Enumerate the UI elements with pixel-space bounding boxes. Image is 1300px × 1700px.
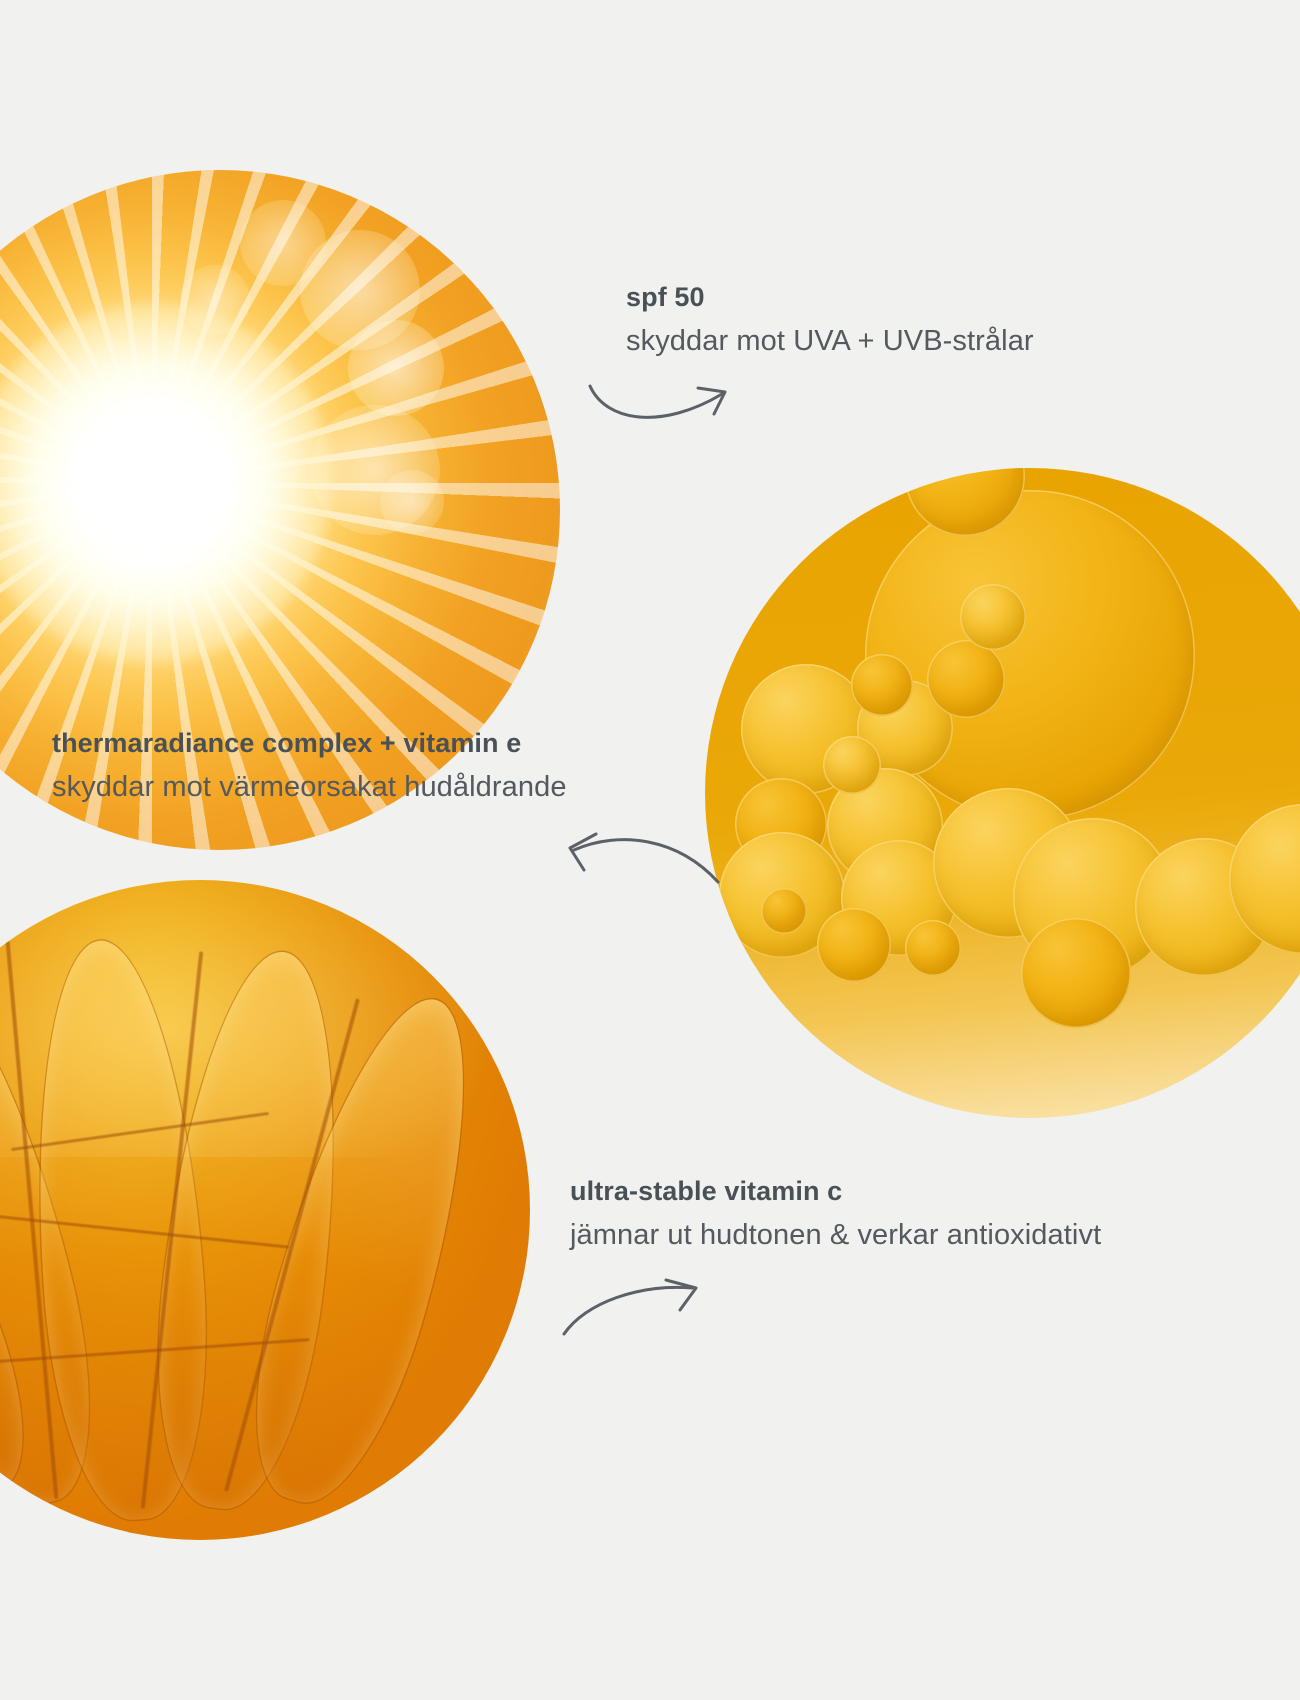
feature-heading-thermaradiance: thermaradiance complex + vitamin e [52,728,567,760]
oil-bubble [761,888,807,934]
oil-bubble [1021,918,1131,1028]
feature-text-thermaradiance: thermaradiance complex + vitamin e skydd… [52,728,567,805]
feature-text-vitaminc: ultra-stable vitamin c jämnar ut hudtone… [570,1176,1101,1253]
oil-bubble [905,920,961,976]
feature-subtext-vitaminc: jämnar ut hudtonen & verkar antioxidativ… [570,1218,1101,1253]
oil-bubbles-circle-image [705,468,1300,1118]
bokeh-circle [380,470,444,534]
curved-arrow-to-sun-icon [586,378,736,438]
curved-arrow-to-text-icon [562,828,722,886]
infographic-canvas: spf 50 skyddar mot UVA + UVB-strålar the… [0,0,1300,1700]
oil-bubble [960,584,1026,650]
feature-heading-vitaminc: ultra-stable vitamin c [570,1176,1101,1208]
oil-bubble [817,908,891,982]
bokeh-circle [240,200,326,286]
bokeh-circle [180,265,250,335]
feature-text-spf: spf 50 skyddar mot UVA + UVB-strålar [626,282,1034,359]
citrus-fruit-circle-image [0,880,530,1540]
feature-heading-spf: spf 50 [626,282,1034,314]
feature-subtext-spf: skyddar mot UVA + UVB-strålar [626,324,1034,359]
curved-arrow-to-citrus-icon [560,1278,710,1340]
feature-subtext-thermaradiance: skyddar mot värmeorsakat hudåldrande [52,770,567,805]
oil-bubble [823,736,881,794]
bokeh-circle [348,320,444,416]
oil-bubble [927,640,1005,718]
oil-bubble [851,654,913,716]
